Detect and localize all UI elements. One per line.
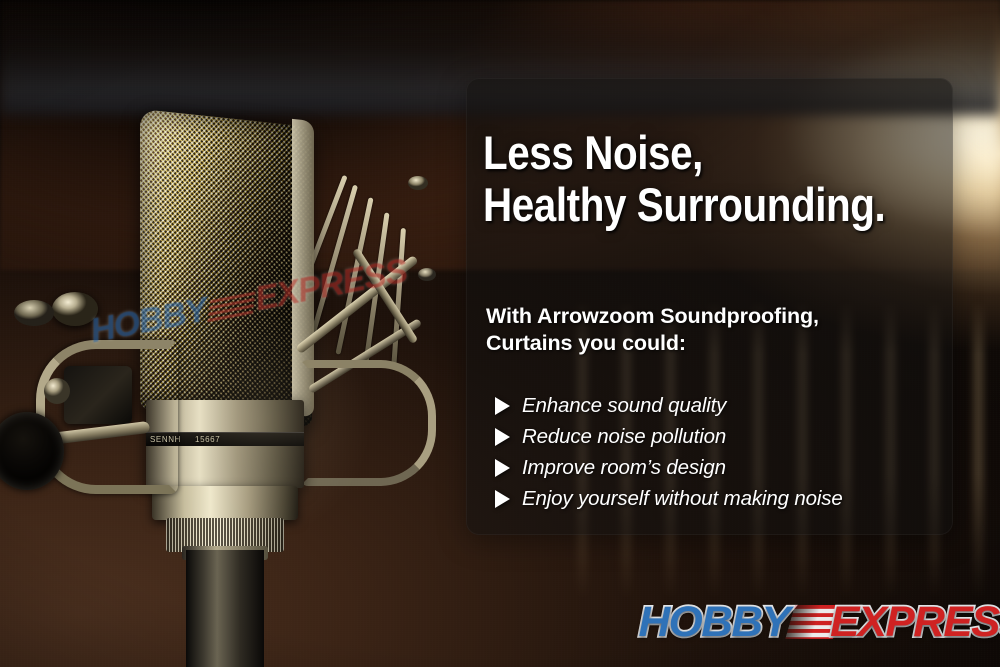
list-item: Improve room’s design xyxy=(492,452,952,483)
shockmount-elastic-5 xyxy=(391,228,406,370)
subheadline: With Arrowzoom Soundproofing, Curtains y… xyxy=(486,303,941,357)
list-item-label: Enhance sound quality xyxy=(522,394,726,418)
list-item: Enjoy yourself without making noise xyxy=(492,483,952,514)
headline-line-1: Less Noise, xyxy=(483,127,887,179)
microphone-stand-shaft xyxy=(186,550,264,667)
logo-word-hobby: HOBBY xyxy=(639,598,790,647)
triangle-right-bullet-icon xyxy=(495,459,510,477)
shockmount-tip-2 xyxy=(418,268,436,281)
microphone-label-right: 15667 xyxy=(195,435,220,444)
headline: Less Noise, Healthy Surrounding. xyxy=(483,127,887,231)
promo-banner: SENNH 15667 HOBBYEXPRESS Less Noise, Hea… xyxy=(0,0,1000,667)
logo-word-express: EXPRESS xyxy=(830,598,1000,647)
shockmount-block-left xyxy=(64,366,132,424)
headline-line-2: Healthy Surrounding. xyxy=(483,179,887,231)
triangle-right-bullet-icon xyxy=(495,490,510,508)
list-item-label: Reduce noise pollution xyxy=(522,425,726,449)
shockmount-ball-joint xyxy=(44,378,70,404)
shockmount-knob-left xyxy=(52,292,98,326)
microphone-photo: SENNH 15667 xyxy=(0,0,470,667)
shockmount-tip-1 xyxy=(408,176,428,190)
list-item-label: Improve room’s design xyxy=(522,456,726,480)
list-item-label: Enjoy yourself without making noise xyxy=(522,487,843,511)
list-item: Enhance sound quality xyxy=(492,390,952,421)
shockmount-knob-left-2 xyxy=(14,300,54,326)
triangle-right-bullet-icon xyxy=(495,428,510,446)
subheadline-line-2: Curtains you could: xyxy=(486,330,941,357)
shockmount-ring-right xyxy=(300,360,436,486)
benefits-list: Enhance sound quality Reduce noise pollu… xyxy=(492,390,952,514)
brand-logo[interactable]: HOBBY EXPRESS xyxy=(640,596,1000,648)
list-item: Reduce noise pollution xyxy=(492,421,952,452)
triangle-right-bullet-icon xyxy=(495,397,510,415)
subheadline-line-1: With Arrowzoom Soundproofing, xyxy=(486,303,941,330)
